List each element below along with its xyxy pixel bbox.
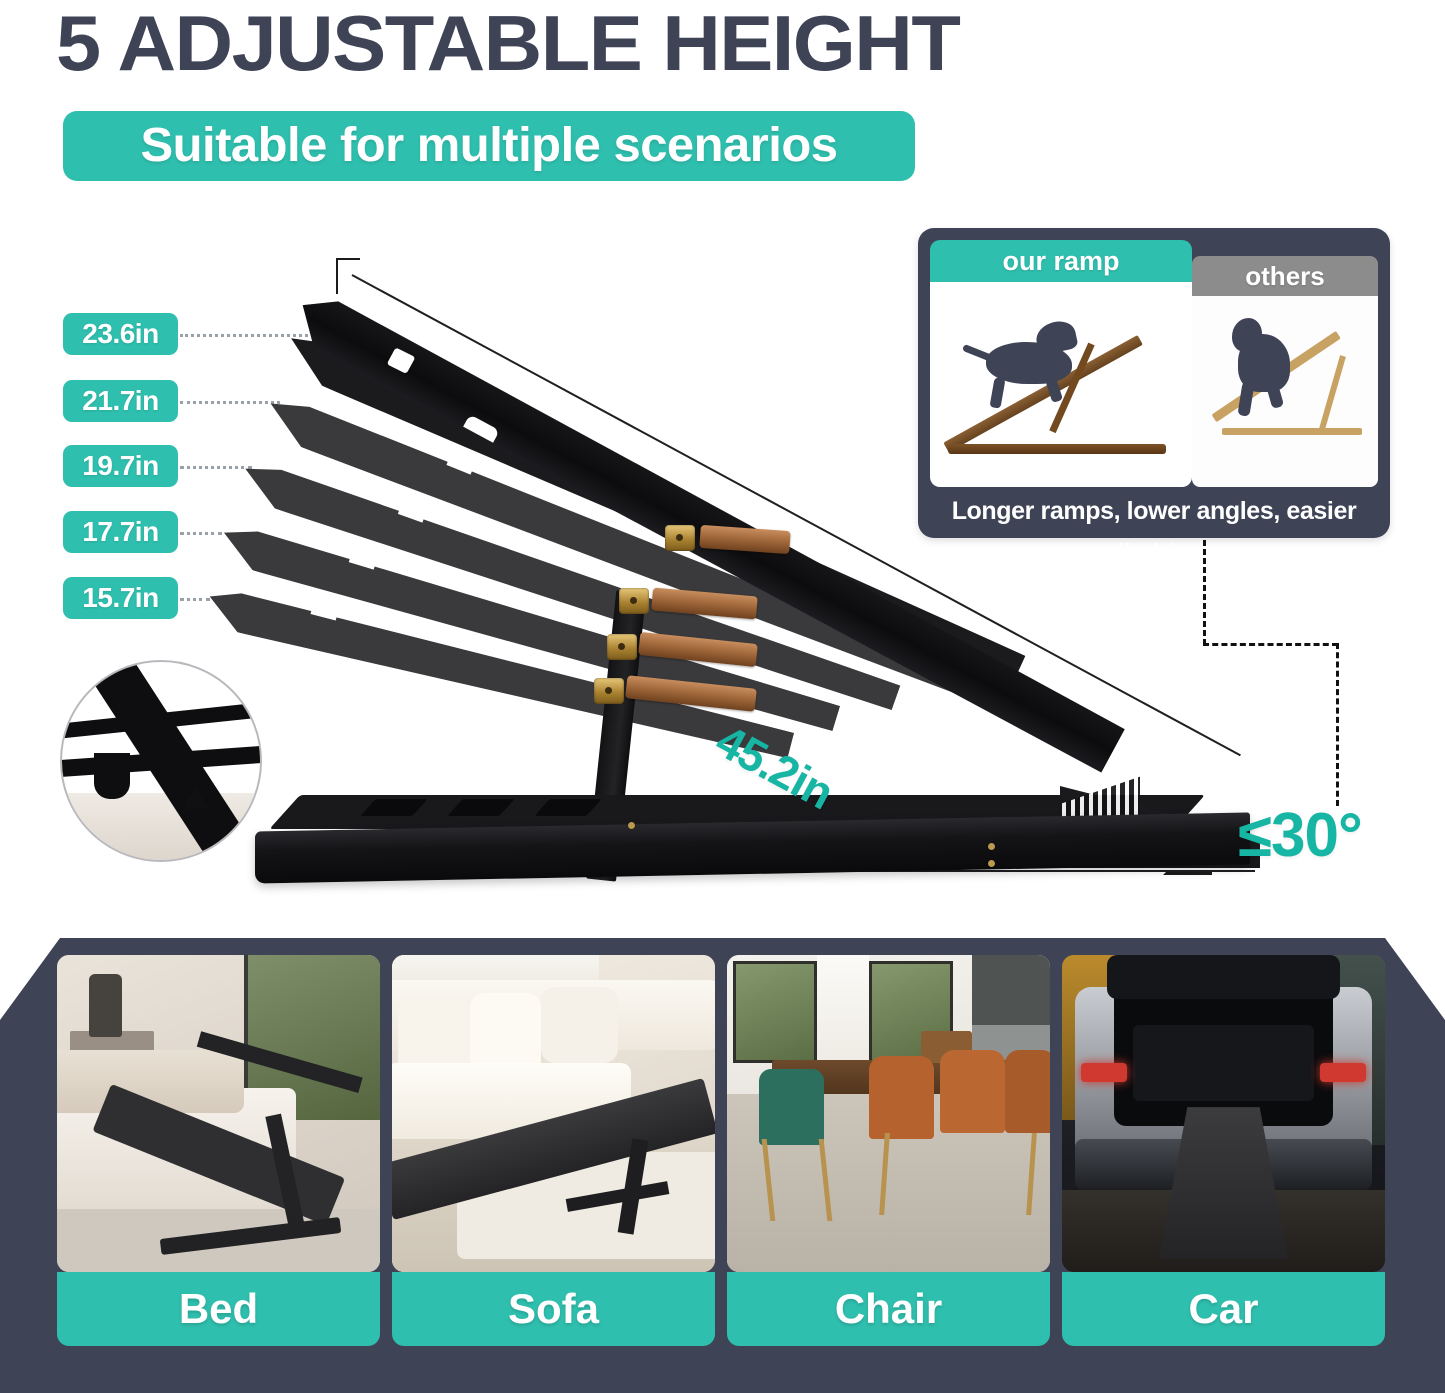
dog-head-others [1232, 318, 1262, 352]
subtitle-label: Suitable for multiple scenarios [54, 111, 923, 181]
chair-orange-1 [869, 1056, 934, 1138]
tab-our-ramp[interactable]: our ramp [930, 240, 1192, 282]
detail-zoom-inset [60, 660, 262, 862]
panel-others [1192, 296, 1378, 487]
scenario-image-car [1062, 955, 1385, 1272]
dog-head-ours [1033, 318, 1078, 356]
scenario-image-bed [57, 955, 380, 1272]
others-ramp-base [1222, 428, 1362, 435]
dog-leg-others-1 [1237, 381, 1254, 416]
ramp-hole [387, 347, 416, 374]
car-taillight-right [1320, 1063, 1365, 1082]
chair-orange-2 [940, 1050, 1005, 1132]
dog-leg-ours-1 [989, 377, 1005, 408]
chair-window-left [733, 961, 817, 1062]
inset-notch-block [94, 753, 130, 799]
panel-our-ramp [930, 282, 1192, 487]
connector-segment-3 [1336, 643, 1339, 806]
apex-tick-horizontal [336, 258, 360, 260]
scenario-image-chair [727, 955, 1050, 1272]
page-title: 5 ADJUSTABLE HEIGHT [56, 0, 1346, 88]
chair-orange-3 [1005, 1050, 1050, 1132]
scenario-image-sofa [392, 955, 715, 1272]
max-angle-label: ≤30° [1238, 800, 1362, 871]
screw-icon-2 [988, 860, 995, 867]
subtitle-badge: Suitable for multiple scenarios [63, 111, 915, 181]
connector-segment-2 [1203, 643, 1338, 646]
comparison-caption: Longer ramps, lower angles, easier climb… [918, 490, 1390, 532]
comparison-card: others our ramp Longer ramps, lower angl… [918, 228, 1390, 538]
scenario-label-bed: Bed [57, 1272, 380, 1346]
chair-green [759, 1069, 824, 1145]
screw-icon-3 [628, 822, 635, 829]
scenario-label-sofa: Sofa [392, 1272, 715, 1346]
connector-segment-1 [1203, 540, 1206, 645]
our-ramp-base [948, 444, 1166, 454]
hinge-icon-2 [619, 588, 649, 614]
chair-orange-legs [879, 1133, 1037, 1215]
bed-lamp [89, 974, 121, 1037]
sofa-cushion-3 [541, 987, 619, 1063]
apex-tick-vertical [336, 258, 338, 294]
hinge-icon-1 [665, 525, 695, 551]
car-tailgate [1107, 955, 1340, 999]
scenario-label-chair: Chair [727, 1272, 1050, 1346]
chair-green-legs [761, 1139, 831, 1221]
scenario-label-car: Car [1062, 1272, 1385, 1346]
car-taillight-left [1081, 1063, 1126, 1082]
hinge-icon-3 [607, 634, 637, 660]
screw-icon-1 [988, 843, 995, 850]
tab-others[interactable]: others [1192, 256, 1378, 296]
others-ramp-leg [1319, 355, 1346, 432]
hinge-icon-4 [594, 678, 624, 704]
car-seats [1133, 1025, 1314, 1101]
